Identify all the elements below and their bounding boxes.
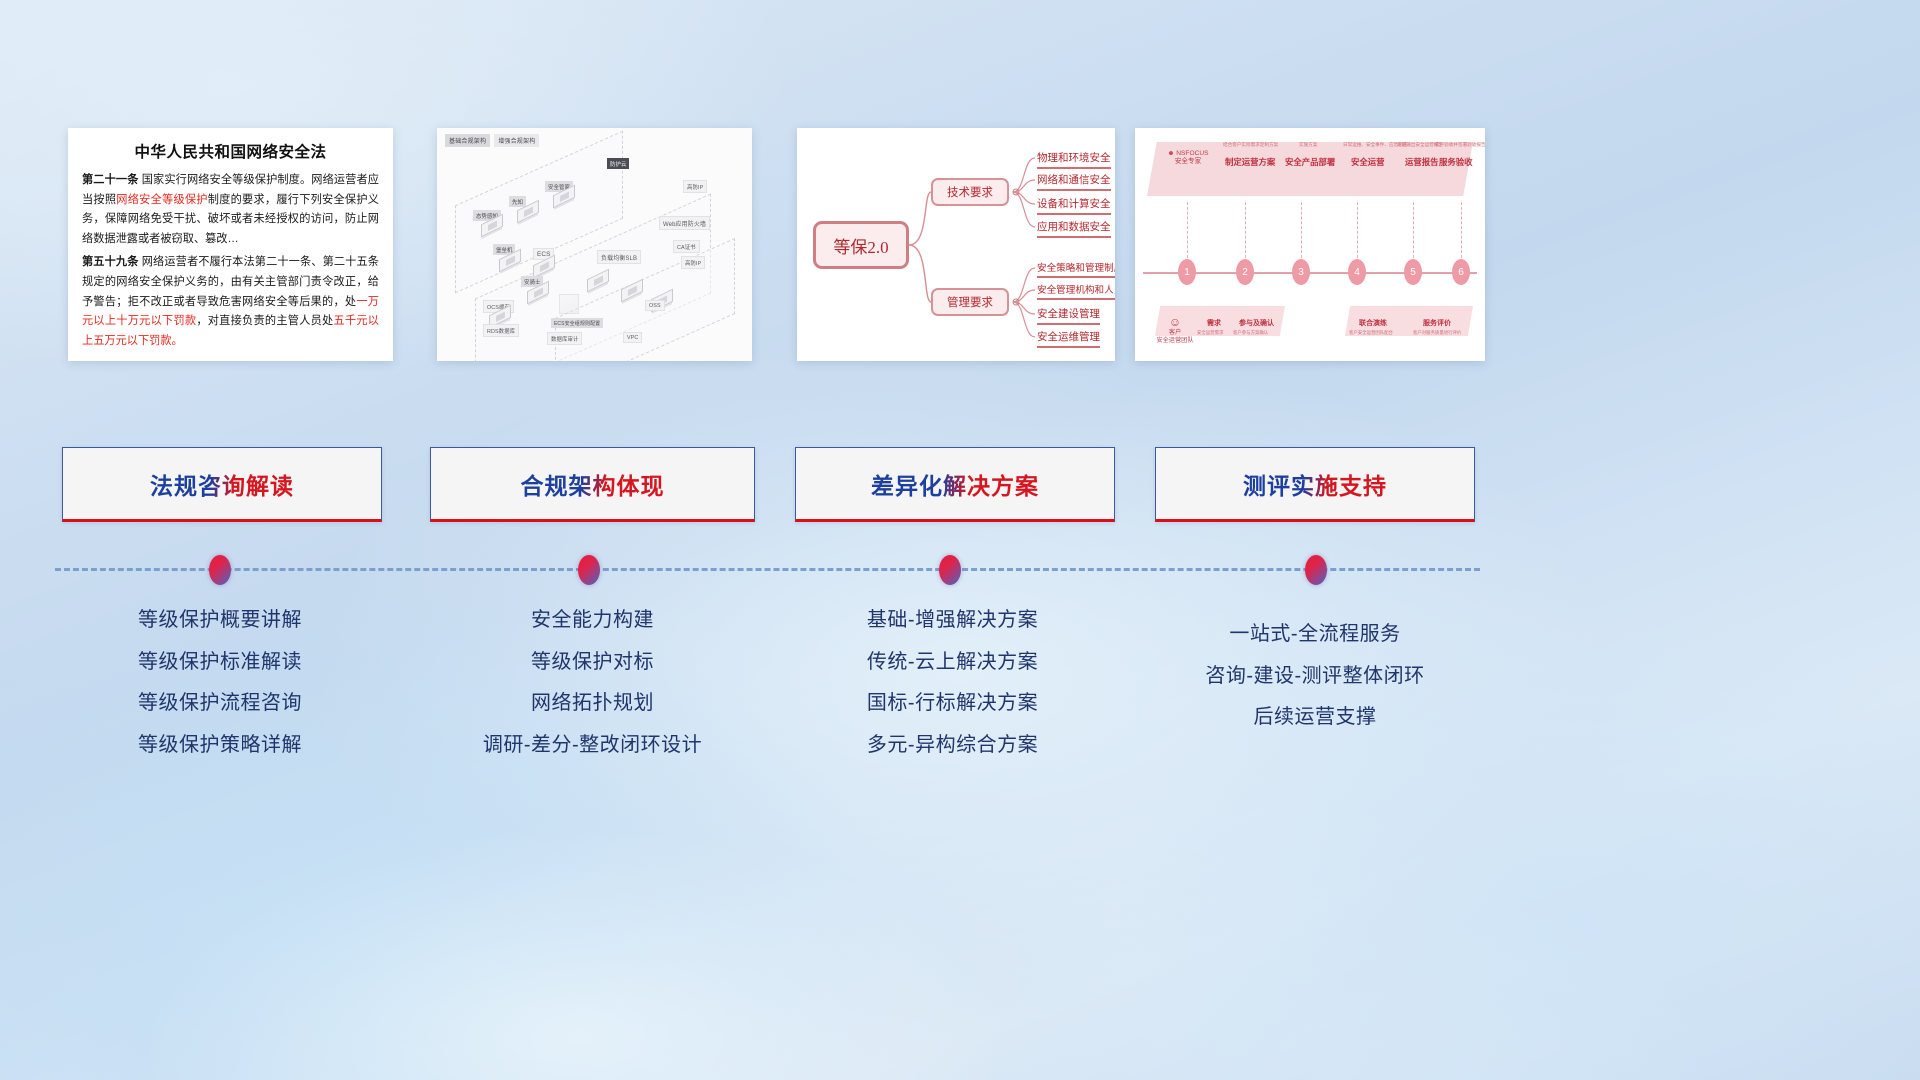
list-item: 安全能力构建	[430, 600, 755, 642]
list-item: 多元-异构综合方案	[790, 725, 1115, 767]
customer-icon: ☺	[1149, 316, 1201, 329]
architecture-node-ecs-rule: ECS安全组规则配置	[551, 318, 603, 328]
detail-column-4: 一站式-全流程服务 咨询-建设-测评整体闭环 后续运营支撑	[1150, 600, 1480, 739]
mindmap-leaf-construction-mgmt: 安全建设管理	[1037, 306, 1100, 325]
mindmap-leaf-network-comm: 网络和通信安全	[1037, 172, 1111, 191]
mindmap-canvas: 等保2.0 技术要求 物理和环境安全 网络和通信安全 设备和计算安全 应用和数据…	[797, 128, 1115, 361]
list-item: 一站式-全流程服务	[1150, 614, 1480, 656]
list-item: 等级保护流程咨询	[60, 683, 380, 725]
architecture-tab-enhanced: 增强合规架构	[494, 134, 539, 147]
nsfocus-step5-title: 运营报告	[1405, 156, 1439, 168]
nsfocus-link-1	[1187, 202, 1188, 258]
pillar-label-1: 法规咨询解读	[150, 467, 294, 501]
pillar-assessment-support[interactable]: 测评实施支持	[1155, 447, 1475, 522]
architecture-node-slb: 负载均衡SLB	[597, 250, 641, 264]
timeline-dot-4[interactable]	[1305, 555, 1327, 585]
nsfocus-link-5	[1413, 202, 1414, 258]
mindmap-branch-technical: 技术要求	[931, 178, 1009, 206]
law-article-21-highlight: 网络安全等级保护	[116, 194, 207, 206]
architecture-node-fangyuyun: 防护云	[607, 158, 629, 169]
list-item: 调研-差分-整改闭环设计	[430, 725, 755, 767]
list-item: 后续运营支撑	[1150, 697, 1480, 739]
nsfocus-bottom-1-sub: 安全运营需求	[1197, 330, 1223, 336]
list-item: 等级保护策略详解	[60, 725, 380, 767]
architecture-tabs: 基础合规架构 增强合规架构	[445, 134, 539, 147]
architecture-node-xianzhi: 先知	[509, 196, 526, 207]
nsfocus-step2-sub: 结合客户实际需求定制方案	[1223, 142, 1278, 148]
timeline-dot-3[interactable]	[939, 555, 961, 585]
mindmap-branch-management: 管理要求	[931, 288, 1009, 316]
mindmap-root-node: 等保2.0	[813, 221, 909, 269]
list-item: 等级保护标准解读	[60, 642, 380, 684]
architecture-node-gaofangip: 高防IP	[681, 256, 705, 269]
detail-column-3: 基础-增强解决方案 传统-云上解决方案 国标-行标解决方案 多元-异构综合方案	[790, 600, 1115, 766]
nsfocus-step6-sub: 客户验收并签署验收报告	[1435, 142, 1485, 148]
architecture-node-ca: CA证书	[673, 240, 700, 253]
nsfocus-customer-block: ☺ 客户 安全运营团队	[1149, 316, 1201, 345]
list-item: 等级保护概要讲解	[60, 600, 380, 642]
mindmap-card: 等保2.0 技术要求 物理和环境安全 网络和通信安全 设备和计算安全 应用和数据…	[797, 128, 1115, 361]
pillar-compliance-architecture[interactable]: 合规架构体现	[430, 447, 755, 522]
law-body: 中华人民共和国网络安全法 第二十一条 国家实行网络安全等级保护制度。网络运营者应…	[68, 128, 393, 357]
nsfocus-link-3	[1301, 202, 1302, 258]
architecture-canvas: 基础合规架构 增强合规架构 防护云 安全管家 先知 态势感知 高防IP Web应…	[437, 128, 752, 361]
reference-image-row: 中华人民共和国网络安全法 第二十一条 国家实行网络安全等级保护制度。网络运营者应…	[0, 0, 1920, 400]
nsfocus-step-dot-6: 6	[1452, 259, 1470, 285]
list-item: 等级保护对标	[430, 642, 755, 684]
timeline-dashed-line	[55, 568, 1480, 571]
architecture-server-icon-1	[559, 294, 579, 314]
law-text-card: 中华人民共和国网络安全法 第二十一条 国家实行网络安全等级保护制度。网络运营者应…	[68, 128, 393, 361]
mindmap-leaf-physical-env: 物理和环境安全	[1037, 150, 1111, 169]
law-paragraph-59: 第五十九条 网络运营者不履行本法第二十一条、第二十五条规定的网络安全保护义务的，…	[82, 253, 379, 351]
pillar-label-3: 差异化解决方案	[871, 467, 1039, 501]
nsfocus-bottom-2-sub: 客户参与方案确认	[1233, 330, 1268, 336]
nsfocus-customer: 客户	[1169, 329, 1181, 336]
nsfocus-step-dot-2: 2	[1236, 259, 1254, 285]
pillar-regulation-consulting[interactable]: 法规咨询解读	[62, 447, 382, 522]
architecture-node-waf: Web应用防火墙	[659, 216, 710, 230]
pillar-differentiated-solution[interactable]: 差异化解决方案	[795, 447, 1115, 522]
nsfocus-brand-sub: 安全专家	[1175, 158, 1201, 165]
nsfocus-bottom-1-title: 需求	[1207, 318, 1221, 328]
slide-canvas: 中华人民共和国网络安全法 第二十一条 国家实行网络安全等级保护制度。网络运营者应…	[0, 0, 1920, 1080]
detail-column-1: 等级保护概要讲解 等级保护标准解读 等级保护流程咨询 等级保护策略详解	[60, 600, 380, 766]
nsfocus-step-dot-1: 1	[1178, 259, 1196, 285]
nsfocus-step6-title: 服务验收	[1439, 156, 1473, 168]
nsfocus-step2-title: 制定运营方案	[1225, 156, 1275, 168]
architecture-node-db-audit: 数据库审计	[547, 332, 582, 345]
detail-column-2: 安全能力构建 等级保护对标 网络拓扑规划 调研-差分-整改闭环设计	[430, 600, 755, 766]
nsfocus-link-4	[1357, 202, 1358, 258]
nsfocus-step-dot-5: 5	[1404, 259, 1422, 285]
architecture-node-rds: RDS数据库	[483, 324, 519, 337]
architecture-diagram-card: 基础合规架构 增强合规架构 防护云 安全管家 先知 态势感知 高防IP Web应…	[437, 128, 752, 361]
nsfocus-brand: NSFOCUS	[1176, 150, 1208, 157]
nsfocus-step-dot-3: 3	[1292, 259, 1310, 285]
mindmap-leaf-policy-system: 安全策略和管理制度	[1037, 260, 1115, 278]
architecture-node-gaofang-top: 高防IP	[683, 180, 707, 193]
nsfocus-step3-title: 安全产品部署	[1285, 156, 1335, 168]
nsfocus-bottom-3-sub: 客户安全运营团队配合	[1349, 330, 1393, 336]
timeline-row	[0, 546, 1920, 592]
person-icon: ☻	[1167, 150, 1174, 157]
list-item: 网络拓扑规划	[430, 683, 755, 725]
mindmap-leaf-app-data: 应用和数据安全	[1037, 219, 1111, 238]
nsfocus-bottom-2-title: 参与及确认	[1239, 318, 1274, 328]
timeline-dot-1[interactable]	[209, 555, 231, 585]
nsfocus-timeline-card: ☻ NSFOCUS 安全专家 结合客户实际需求定制方案 制定运营方案 实施方案 …	[1135, 128, 1485, 361]
pillar-label-4: 测评实施支持	[1243, 467, 1387, 501]
law-article-21-label: 第二十一条	[82, 174, 139, 186]
list-item: 国标-行标解决方案	[790, 683, 1115, 725]
nsfocus-link-2	[1245, 202, 1246, 258]
nsfocus-bottom-4-title: 服务评价	[1423, 318, 1451, 328]
architecture-tab-basic: 基础合规架构	[445, 134, 490, 147]
list-item: 基础-增强解决方案	[790, 600, 1115, 642]
mindmap-leaf-org-personnel: 安全管理机构和人员	[1037, 282, 1115, 300]
list-item: 咨询-建设-测评整体闭环	[1150, 656, 1480, 698]
law-paragraph-21: 第二十一条 国家实行网络安全等级保护制度。网络运营者应当按照网络安全等级保护制度…	[82, 171, 379, 249]
architecture-node-oss: OSS	[645, 300, 665, 311]
nsfocus-bottom-3-title: 联合演练	[1359, 318, 1387, 328]
mindmap-leaf-ops-mgmt: 安全运维管理	[1037, 329, 1100, 348]
pillar-label-2: 合规架构体现	[521, 467, 665, 501]
law-article-59-mid: ，对直接负责的主管人员处	[196, 315, 333, 327]
law-article-59-label: 第五十九条	[82, 256, 139, 268]
nsfocus-bottom-4-sub: 客户对服务质量进行评价	[1413, 330, 1461, 336]
detail-list-row: 等级保护概要讲解 等级保护标准解读 等级保护流程咨询 等级保护策略详解 安全能力…	[0, 600, 1920, 820]
nsfocus-link-6	[1461, 202, 1462, 258]
timeline-dot-2[interactable]	[578, 555, 600, 585]
nsfocus-customer-sub: 安全运营团队	[1156, 337, 1193, 344]
nsfocus-step3-sub: 实施方案	[1299, 142, 1317, 148]
architecture-node-vpc: VPC	[623, 332, 642, 343]
nsfocus-expert-block: ☻ NSFOCUS 安全专家	[1161, 150, 1215, 167]
nsfocus-step-dot-4: 4	[1348, 259, 1366, 285]
pillar-row: 法规咨询解读 合规架构体现 差异化解决方案 测评实施支持	[0, 447, 1920, 522]
list-item: 传统-云上解决方案	[790, 642, 1115, 684]
nsfocus-canvas: ☻ NSFOCUS 安全专家 结合客户实际需求定制方案 制定运营方案 实施方案 …	[1135, 128, 1485, 361]
law-title: 中华人民共和国网络安全法	[82, 140, 379, 162]
nsfocus-step4-title: 安全运营	[1351, 156, 1385, 168]
mindmap-leaf-device-compute: 设备和计算安全	[1037, 196, 1111, 215]
